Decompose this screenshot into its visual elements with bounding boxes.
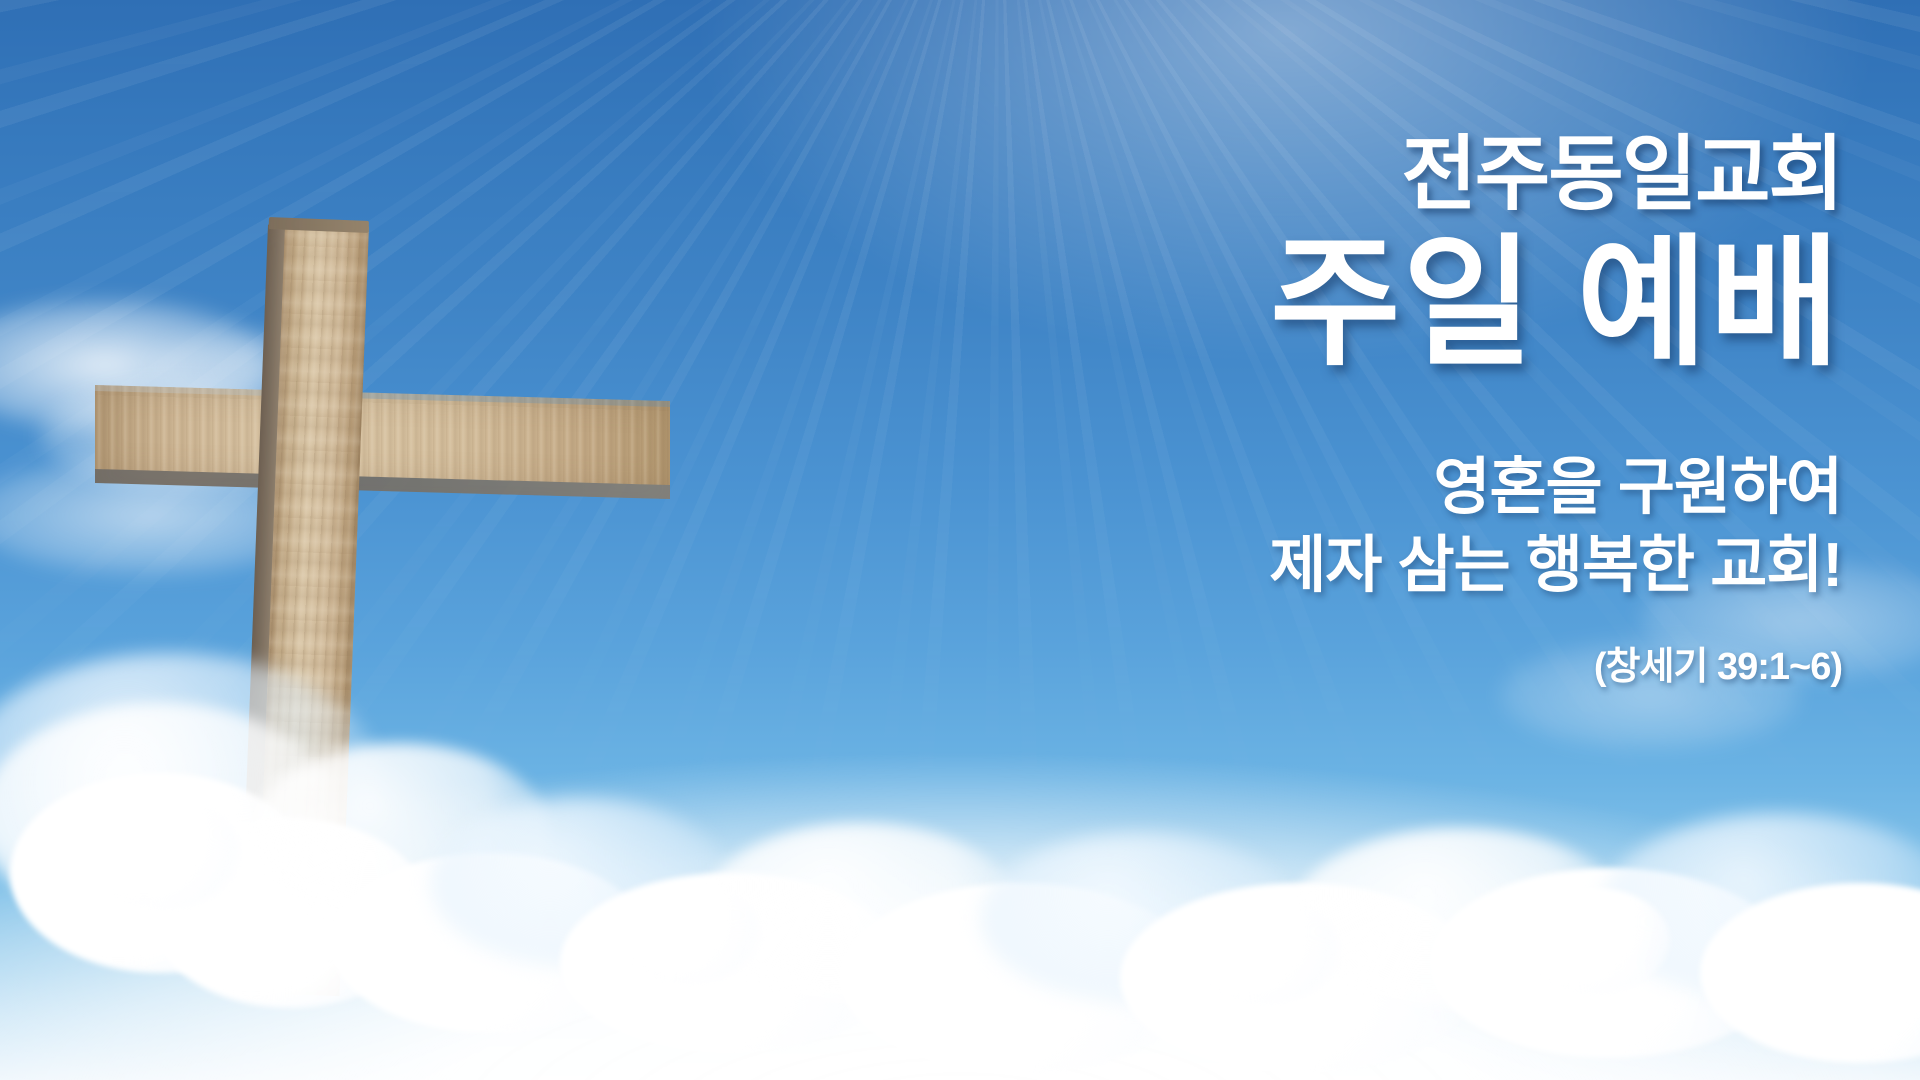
slide-text-block: 전주동일교회 주일 예배 영혼을 구원하여 제자 삼는 행복한 교회! (창세기…	[1002, 132, 1842, 690]
service-title: 주일 예배	[1002, 224, 1842, 383]
slogan-line-2: 제자 삼는 행복한 교회!	[1002, 527, 1842, 605]
worship-slide: 전주동일교회 주일 예배 영혼을 구원하여 제자 삼는 행복한 교회! (창세기…	[0, 0, 1920, 1080]
church-slogan: 영혼을 구원하여 제자 삼는 행복한 교회!	[1002, 449, 1842, 605]
slogan-line-1: 영혼을 구원하여	[1002, 449, 1842, 527]
bible-verse-reference: (창세기 39:1~6)	[1002, 635, 1842, 690]
church-name: 전주동일교회	[1002, 132, 1842, 218]
